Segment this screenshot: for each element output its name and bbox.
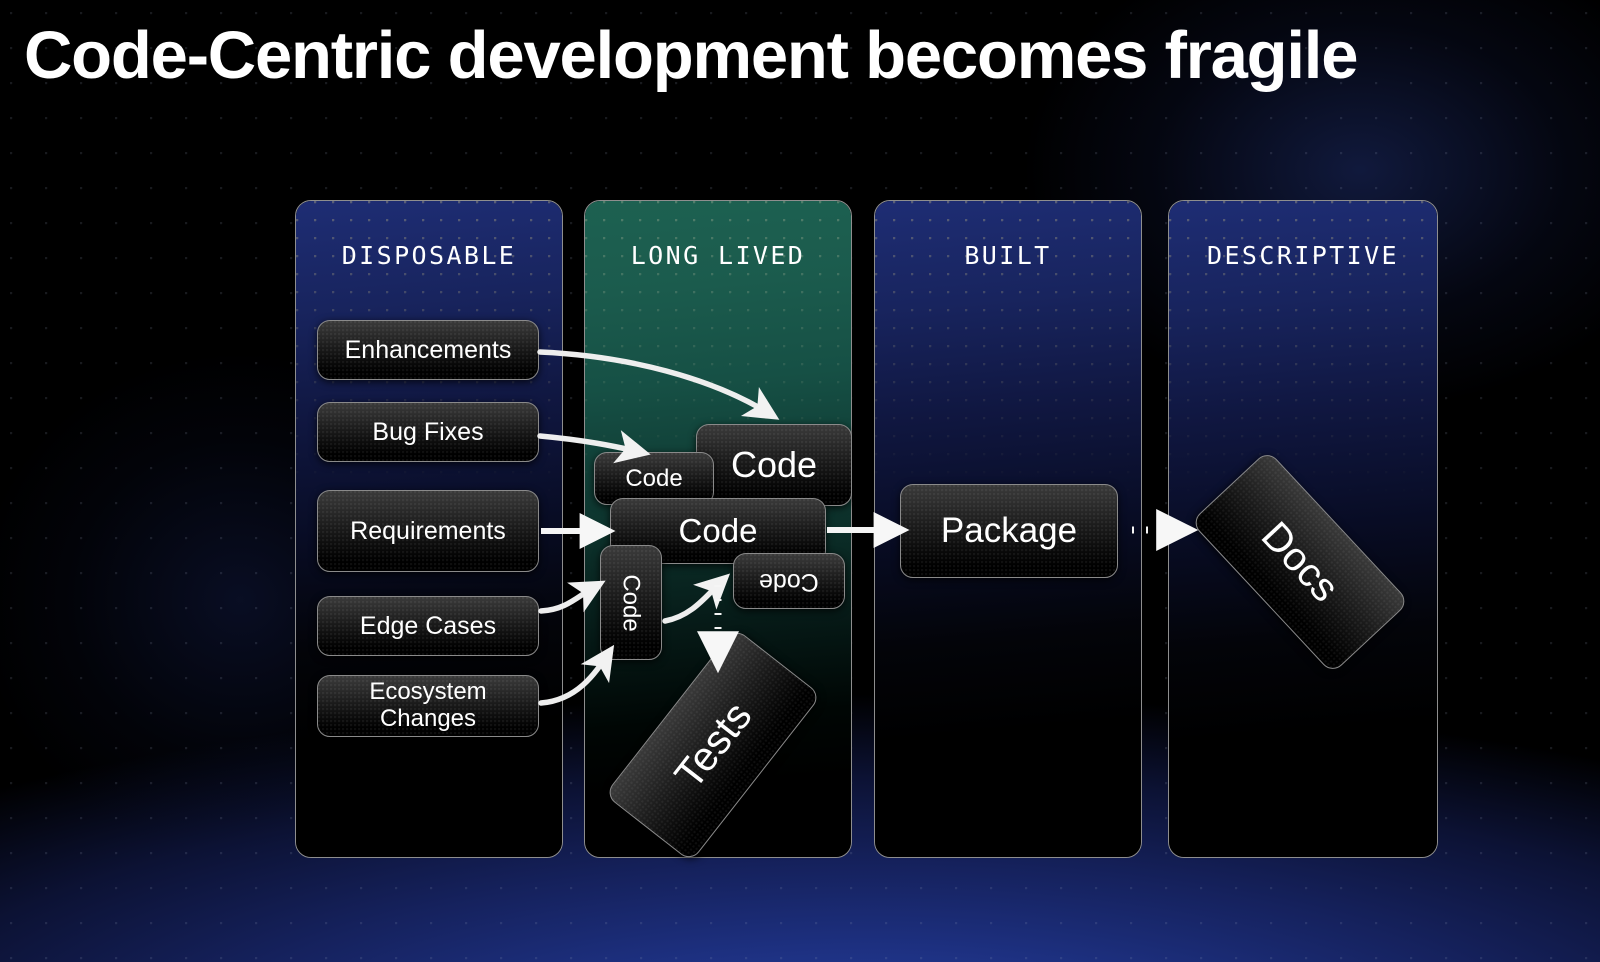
card-code-large[interactable]: Code [696,424,852,506]
card-label: Package [941,511,1077,551]
card-label: Code [759,567,819,596]
column-title-long-lived: LONG LIVED [585,241,851,270]
card-label: Bug Fixes [372,418,483,446]
slide-title: Code-Centric development becomes fragile [24,14,1584,98]
column-title-disposable: DISPOSABLE [296,241,562,270]
card-label: Code [679,512,758,550]
card-requirements[interactable]: Requirements [317,490,539,572]
card-enhancements[interactable]: Enhancements [317,320,539,380]
card-ecosystem-changes[interactable]: Ecosystem Changes [317,675,539,737]
card-edge-cases[interactable]: Edge Cases [317,596,539,656]
card-code-flipped[interactable]: Code [733,553,845,609]
column-title-built: BUILT [875,241,1141,270]
card-bug-fixes[interactable]: Bug Fixes [317,402,539,462]
card-label: Enhancements [345,336,512,364]
card-label: Tests [665,693,761,797]
card-code-vertical[interactable]: Code [600,545,662,660]
card-label: Code [625,465,682,493]
slide-canvas: Code-Centric development becomes fragile… [0,0,1600,962]
column-title-descriptive: DESCRIPTIVE [1169,241,1437,270]
card-label: Ecosystem Changes [318,679,538,733]
card-label: Docs [1252,513,1347,610]
card-label: Edge Cases [360,612,496,640]
card-label: Code [731,444,817,486]
card-package[interactable]: Package [900,484,1118,578]
card-label: Requirements [350,517,506,545]
card-label: Code [617,574,645,631]
